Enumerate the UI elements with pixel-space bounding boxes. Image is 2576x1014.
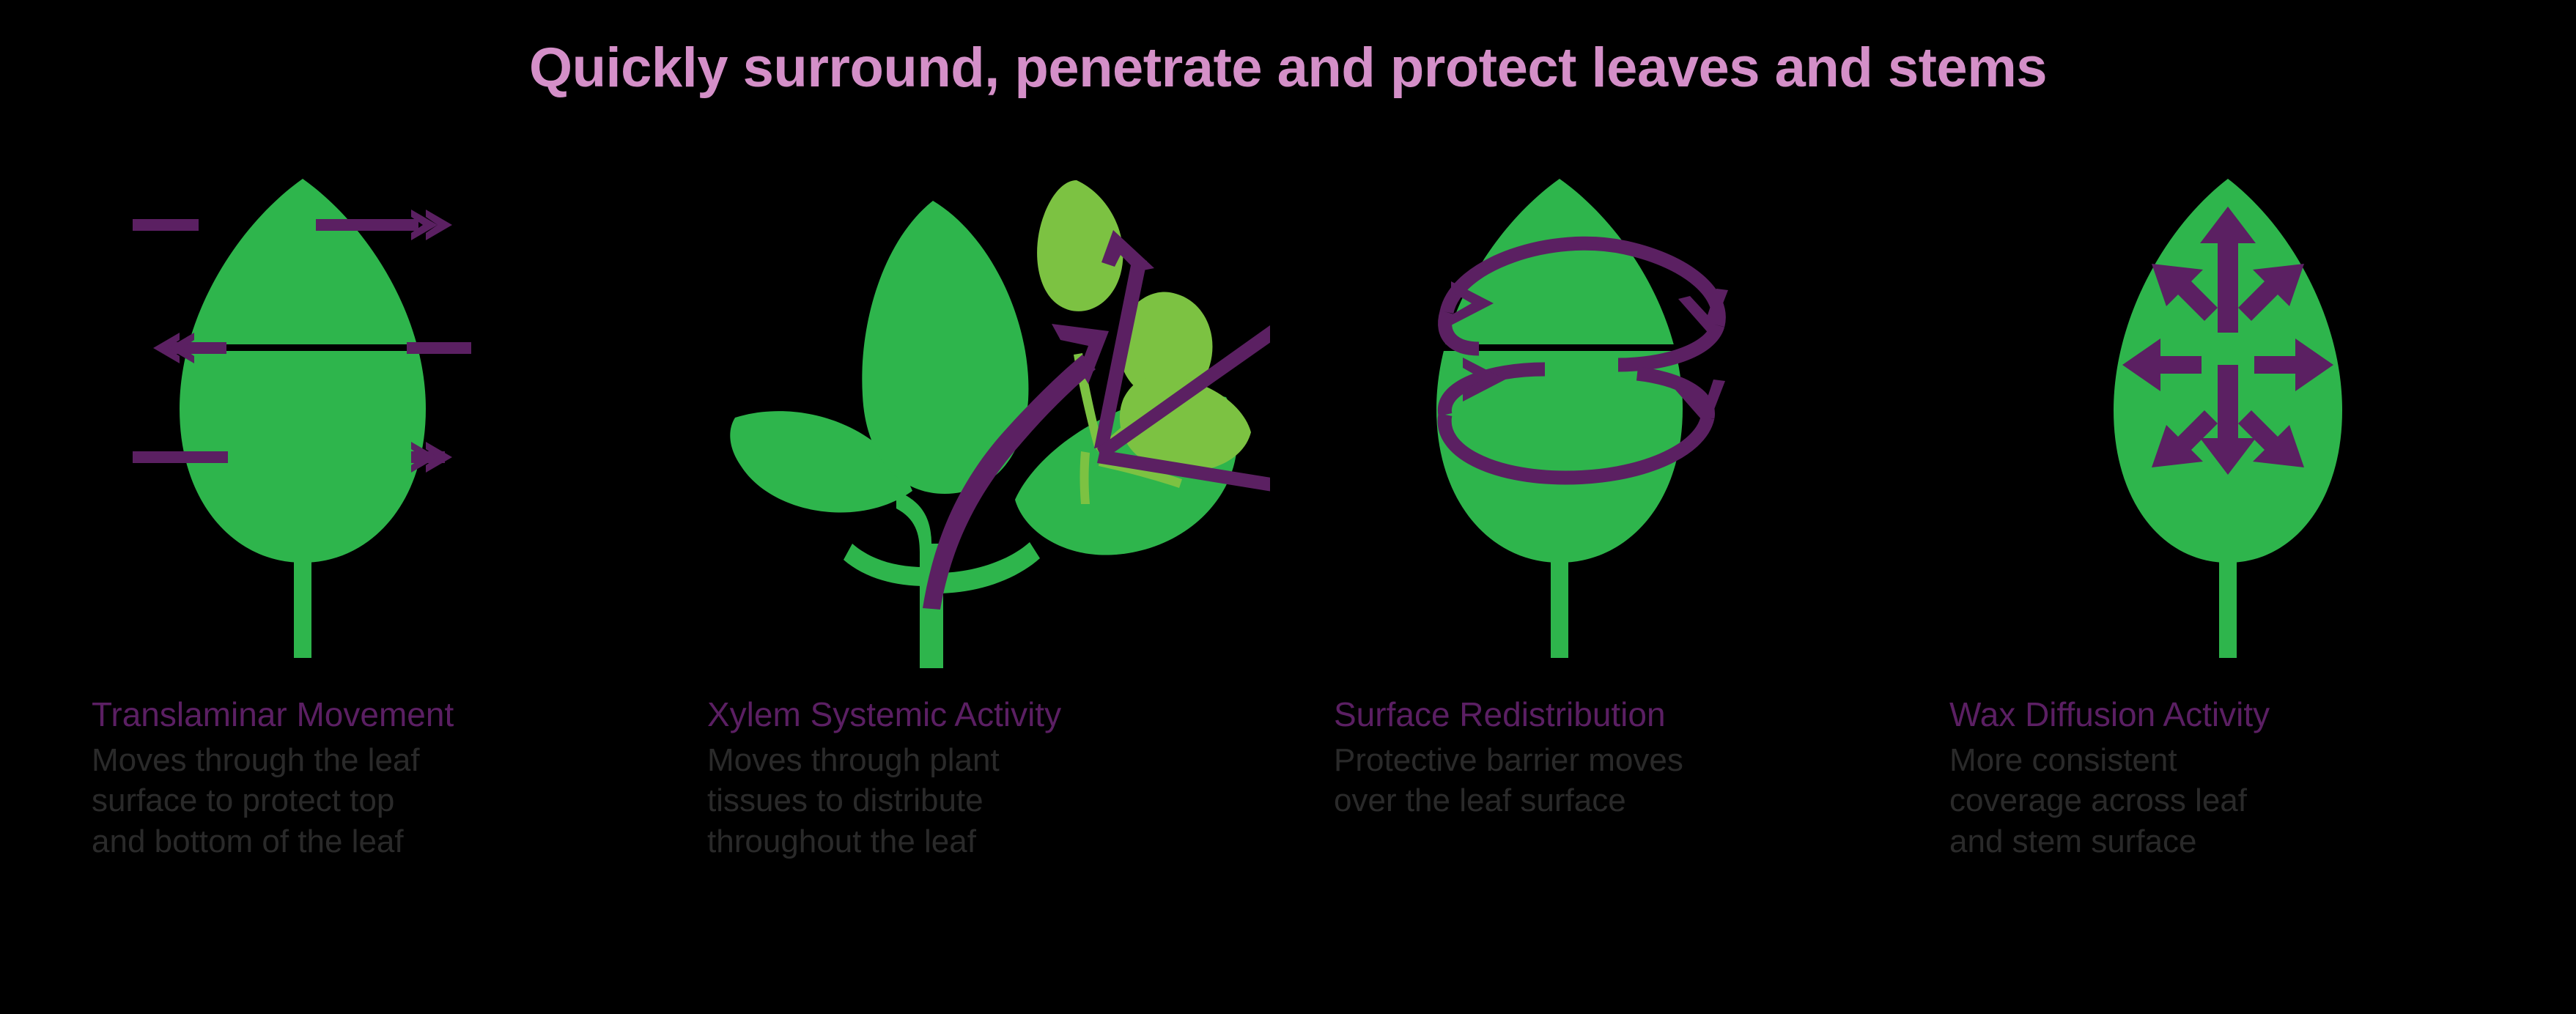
translaminar-leaf-icon [127, 152, 713, 673]
leaf-shape [180, 179, 426, 658]
card-surface-redistribution: Surface Redistribution Protective barrie… [1334, 110, 1949, 974]
surface-redistribution-leaf-icon [1369, 152, 1955, 673]
body-line: Moves through the leaf [92, 740, 678, 781]
card-title: Translaminar Movement [92, 696, 678, 734]
card-text-block: Xylem Systemic Activity Moves through pl… [707, 696, 1293, 862]
body-line: Protective barrier moves [1334, 740, 1920, 781]
card-body: Moves through the leaf surface to protec… [92, 740, 678, 863]
wax-diffusion-leaf-icon [2081, 152, 2576, 673]
card-text-block: Surface Redistribution Protective barrie… [1334, 696, 1920, 821]
card-translaminar-movement: Translaminar Movement Moves through the … [92, 110, 707, 974]
body-line: and stem surface [1949, 821, 2536, 862]
body-line: Moves through plant [707, 740, 1293, 781]
card-title: Surface Redistribution [1334, 696, 1920, 734]
body-line: tissues to distribute [707, 780, 1293, 821]
body-line: throughout the leaf [707, 821, 1293, 862]
card-wax-diffusion-activity: Wax Diffusion Activity More consistent c… [1949, 110, 2565, 974]
body-line: and bottom of the leaf [92, 821, 678, 862]
card-xylem-systemic-activity: Xylem Systemic Activity Moves through pl… [707, 110, 1323, 974]
body-line: over the leaf surface [1334, 780, 1920, 821]
card-body: Moves through plant tissues to distribut… [707, 740, 1293, 863]
body-line: coverage across leaf [1949, 780, 2536, 821]
card-text-block: Wax Diffusion Activity More consistent c… [1949, 696, 2536, 862]
body-line: surface to protect top [92, 780, 678, 821]
page-title: Quickly surround, penetrate and protect … [0, 39, 2576, 97]
card-text-block: Translaminar Movement Moves through the … [92, 696, 678, 862]
infographic-root: Quickly surround, penetrate and protect … [0, 0, 2576, 1014]
body-line: More consistent [1949, 740, 2536, 781]
card-body: More consistent coverage across leaf and… [1949, 740, 2536, 863]
xylem-plant-icon [713, 104, 1299, 624]
card-title: Xylem Systemic Activity [707, 696, 1293, 734]
cards-row: Translaminar Movement Moves through the … [0, 110, 2576, 989]
card-body: Protective barrier moves over the leaf s… [1334, 740, 1920, 822]
card-title: Wax Diffusion Activity [1949, 696, 2536, 734]
